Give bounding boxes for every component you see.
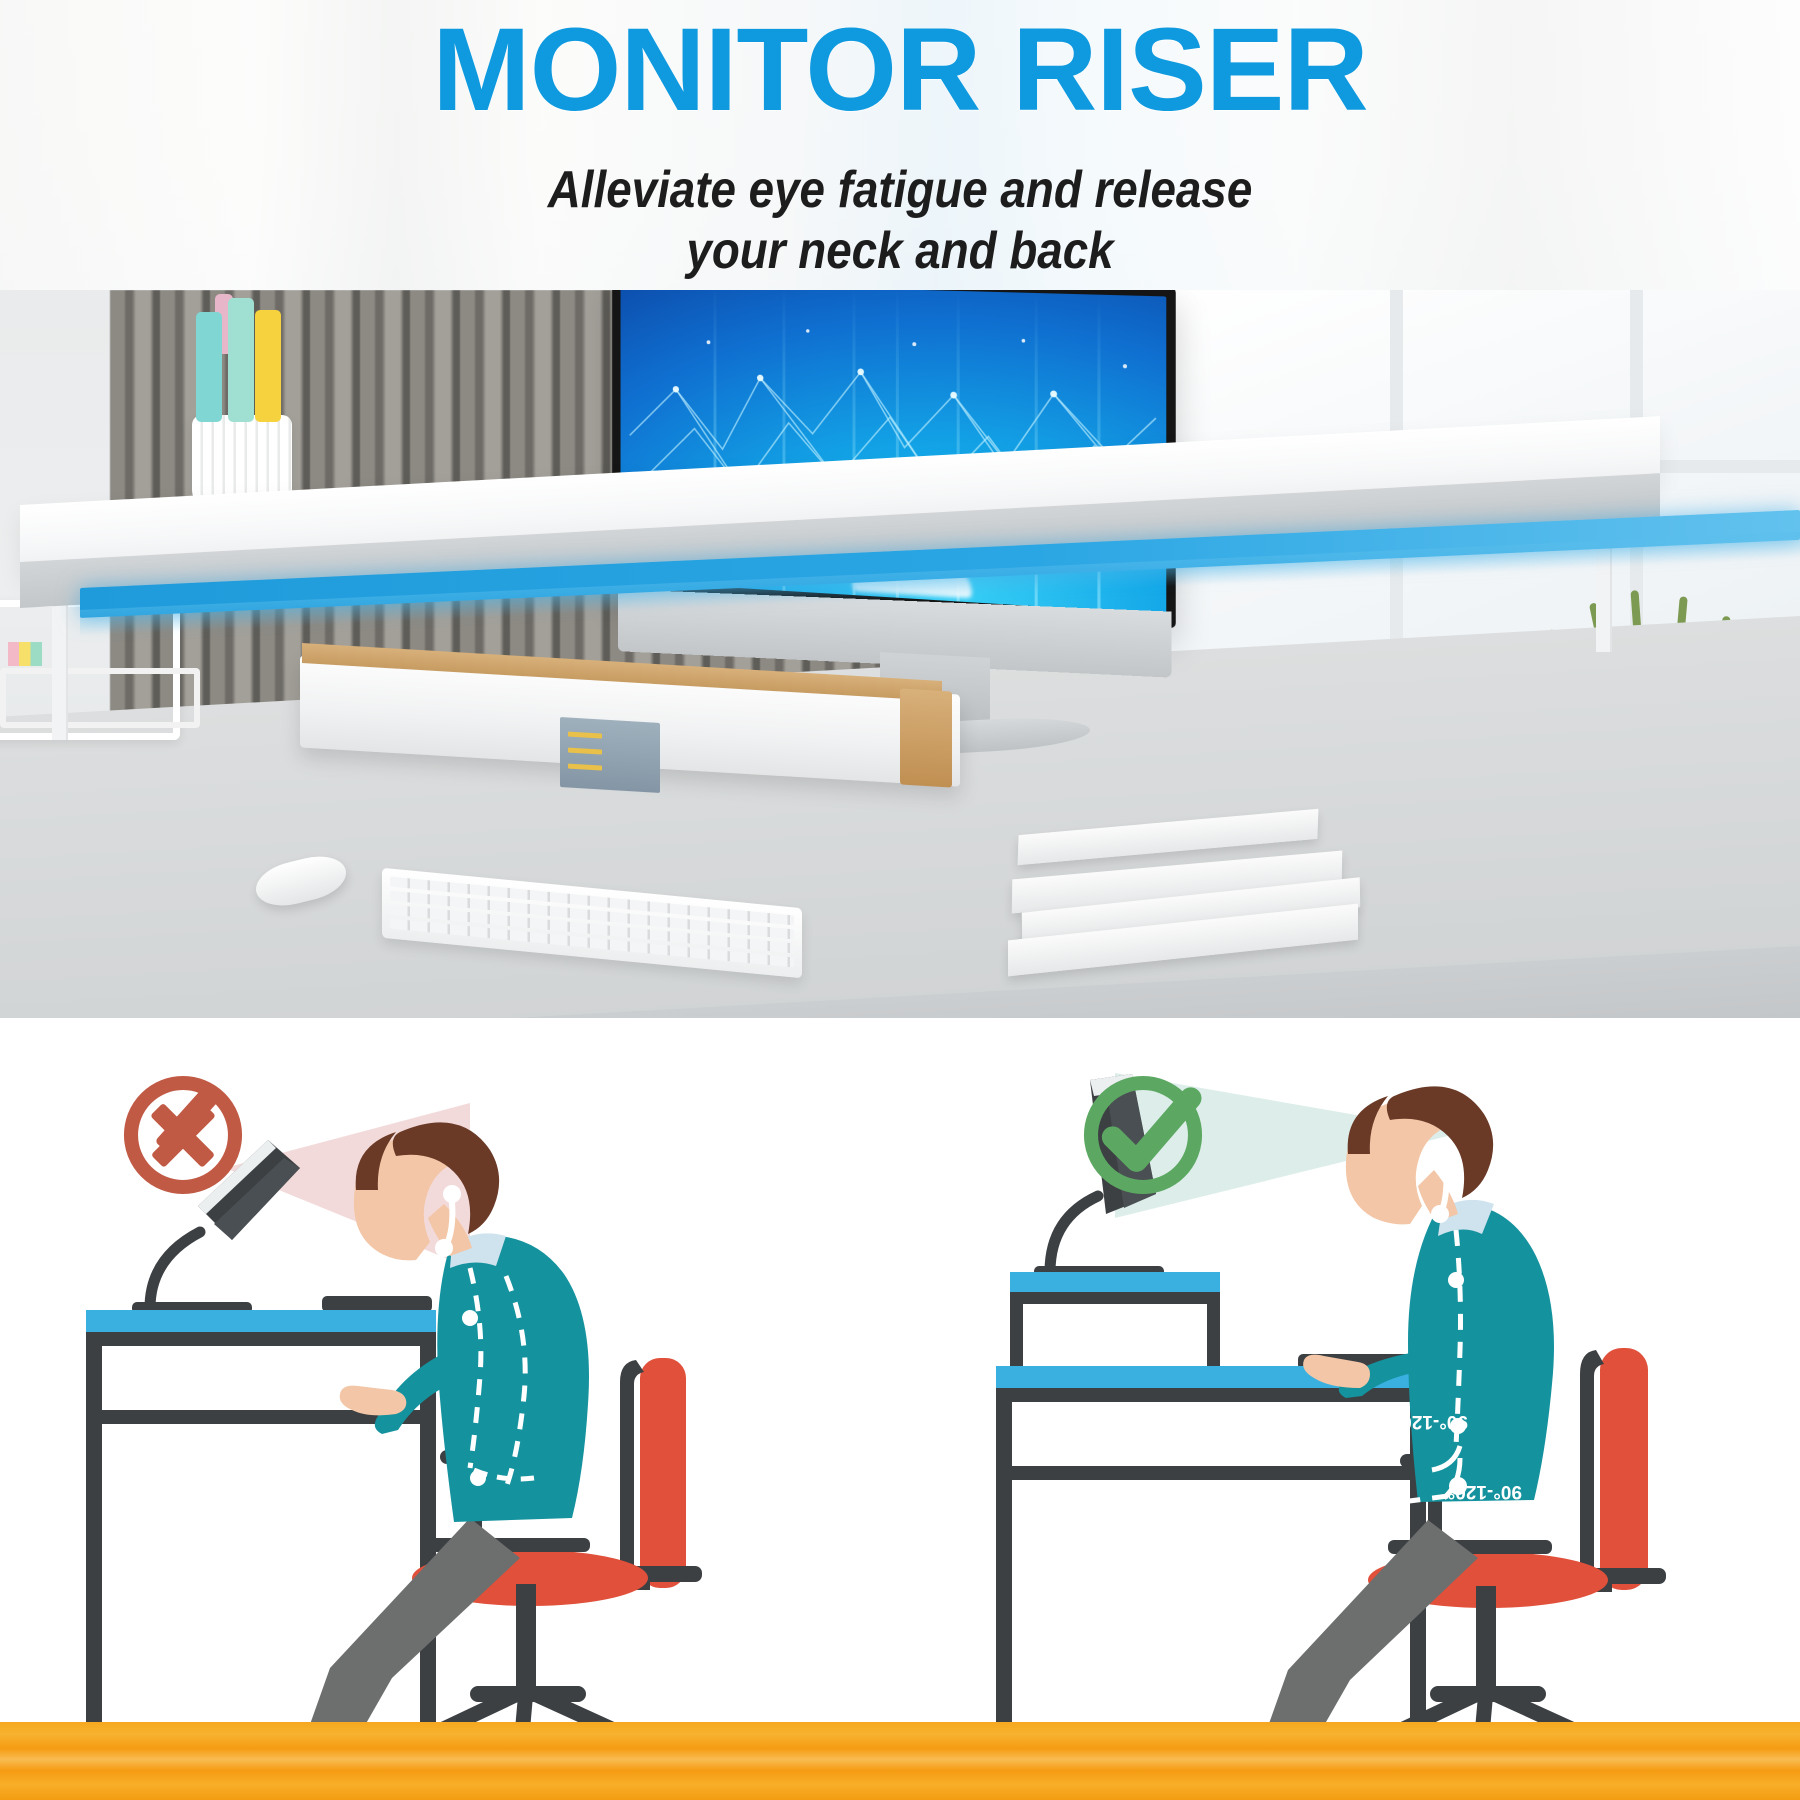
- x-mark-icon: [118, 1070, 248, 1200]
- page-title: MONITOR RISER: [0, 10, 1800, 130]
- pen: [228, 298, 254, 422]
- riser-leg: [52, 590, 68, 740]
- floor-strip: [0, 1722, 1800, 1800]
- subtitle-line-2: your neck and back: [108, 221, 1692, 282]
- desk: [996, 1366, 1426, 1754]
- good-posture-illustration: 90°-120° 90°-120° 90°-120°: [900, 1018, 1800, 1778]
- monitor-riser: [1010, 1272, 1220, 1376]
- keyboard: [322, 1296, 432, 1312]
- product-photo-scene: [0, 290, 1800, 1018]
- sticky-notes: [8, 642, 42, 666]
- product-box-end-cap: [900, 688, 952, 787]
- product-box-label: [560, 717, 660, 793]
- angle-label-hip: 90°-120°: [1448, 1481, 1522, 1502]
- header-band: MONITOR RISER Alleviate eye fatigue and …: [0, 0, 1800, 290]
- check-mark-icon: [1078, 1070, 1208, 1200]
- product-infographic: MONITOR RISER Alleviate eye fatigue and …: [0, 0, 1800, 1800]
- bad-posture-panel: [0, 1018, 900, 1800]
- angle-label-knee: 90°-120°: [1288, 1517, 1365, 1548]
- paper-tray-lower: [0, 668, 200, 728]
- subtitle-line-1: Alleviate eye fatigue and release: [108, 160, 1692, 221]
- pen: [255, 310, 281, 422]
- person-good-posture: [1200, 1086, 1554, 1760]
- page-subtitle: Alleviate eye fatigue and release your n…: [108, 160, 1692, 283]
- pen: [196, 312, 222, 422]
- good-posture-panel: 90°-120° 90°-120° 90°-120°: [900, 1018, 1800, 1800]
- angle-label-elbow: 90°-120°: [1394, 1411, 1468, 1432]
- posture-comparison-section: 90°-120° 90°-120° 90°-120°: [0, 1018, 1800, 1800]
